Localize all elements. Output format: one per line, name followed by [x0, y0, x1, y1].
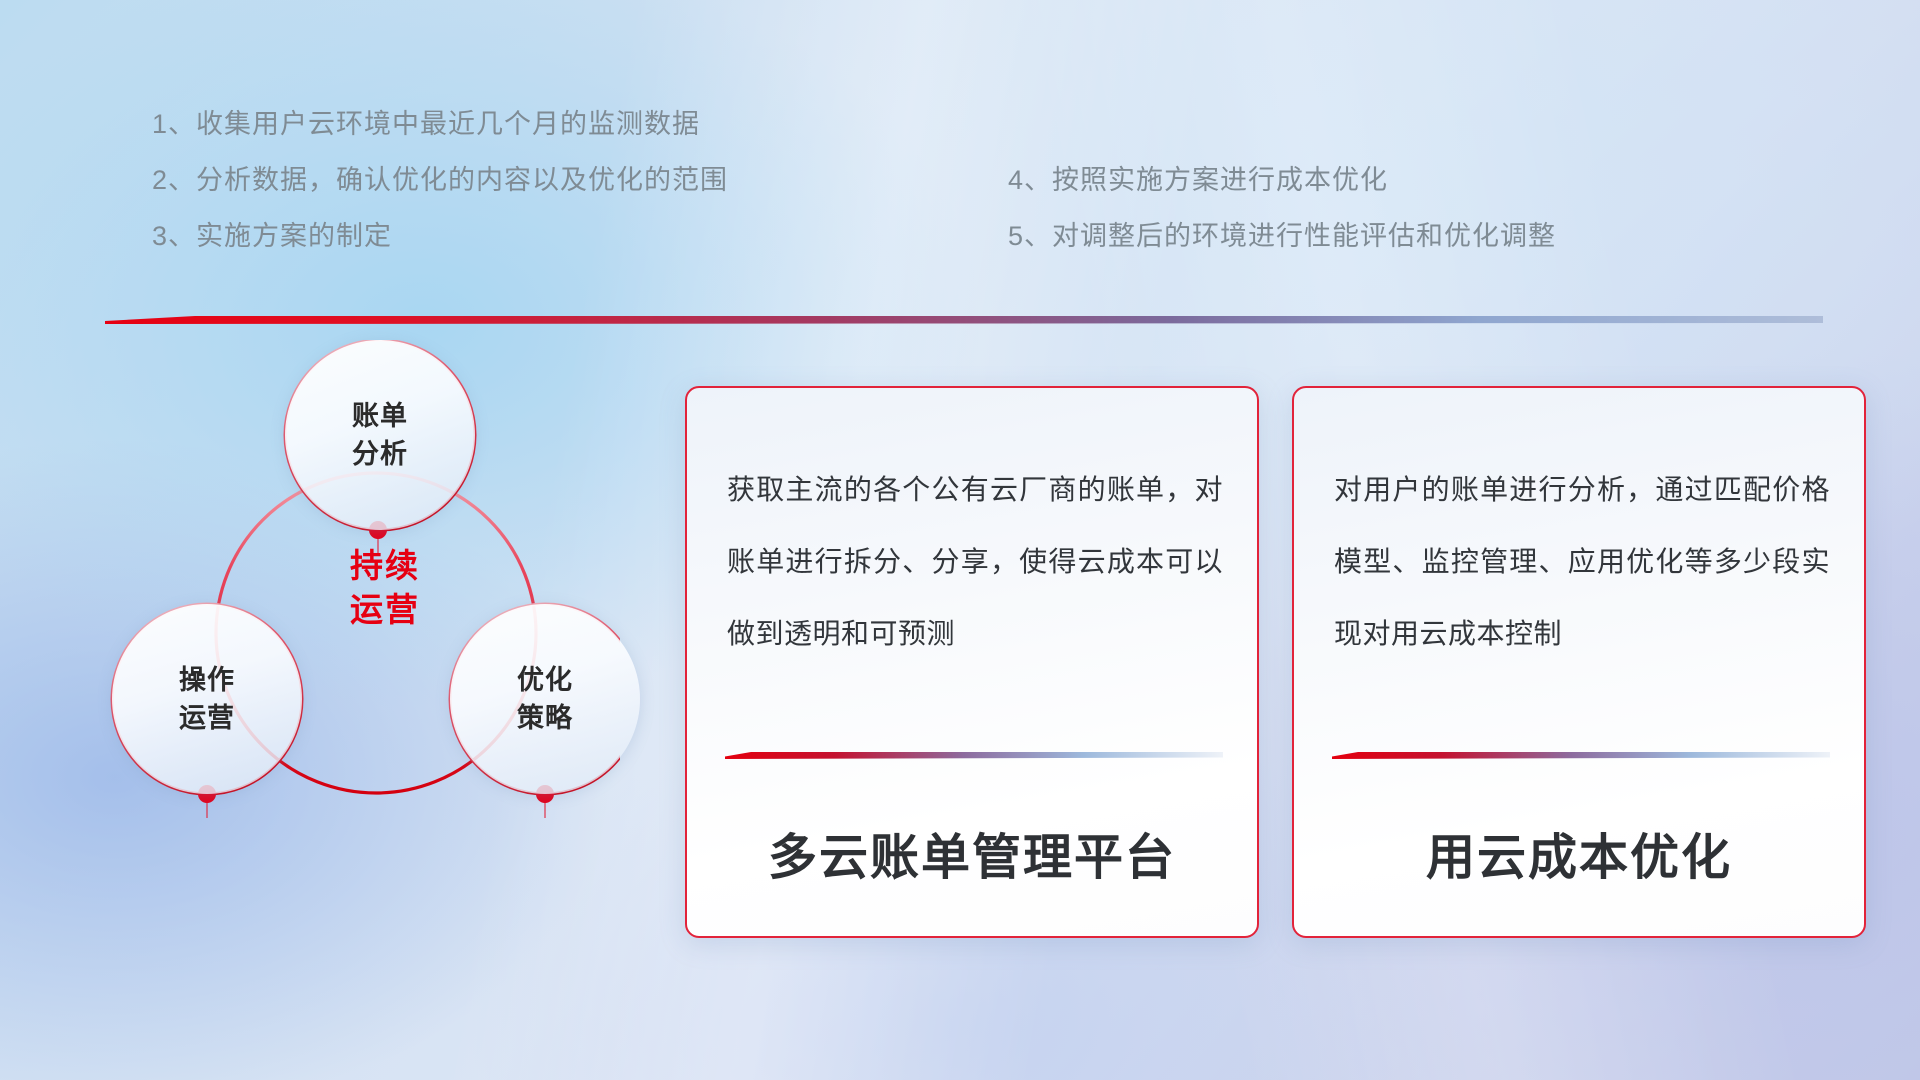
step-item-4: 4、按照实施方案进行成本优化	[1008, 152, 1556, 208]
venn-bubble-top-line2: 分析	[352, 439, 408, 469]
venn-bubble-right-line2: 策略	[517, 703, 573, 733]
card-2-body: 对用户的账单进行分析，通过匹配价格模型、监控管理、应用优化等多少段实现对用云成本…	[1334, 454, 1830, 670]
header-divider	[105, 312, 1823, 324]
card-2-title: 用云成本优化	[1294, 818, 1864, 889]
slide-canvas: 1、收集用户云环境中最近几个月的监测数据 2、分析数据，确认优化的内容以及优化的…	[0, 0, 1920, 1080]
venn-bubble-left-line2: 运营	[179, 703, 235, 733]
venn-center-label: 持续 运营	[305, 544, 465, 632]
venn-diagram: 账单 分析 操作 运营 优化 策略 持续 运营	[100, 340, 620, 960]
card-1-divider	[725, 750, 1223, 759]
steps-left-column: 1、收集用户云环境中最近几个月的监测数据 2、分析数据，确认优化的内容以及优化的…	[152, 96, 728, 264]
venn-center-line1: 持续	[350, 547, 420, 584]
step-item-3: 3、实施方案的制定	[152, 208, 728, 264]
step-item-1: 1、收集用户云环境中最近几个月的监测数据	[152, 96, 728, 152]
venn-bubble-left-line1: 操作	[179, 665, 235, 695]
card-1-title: 多云账单管理平台	[687, 818, 1257, 889]
venn-bubble-optimization-strategy[interactable]: 优化 策略	[450, 604, 640, 794]
card-multicloud-billing-platform[interactable]: 获取主流的各个公有云厂商的账单，对账单进行拆分、分享，使得云成本可以做到透明和可…	[685, 386, 1259, 938]
step-item-5: 5、对调整后的环境进行性能评估和优化调整	[1008, 208, 1556, 264]
venn-bubble-operations[interactable]: 操作 运营	[112, 604, 302, 794]
step-item-2: 2、分析数据，确认优化的内容以及优化的范围	[152, 152, 728, 208]
steps-right-column: 4、按照实施方案进行成本优化 5、对调整后的环境进行性能评估和优化调整	[1008, 152, 1556, 264]
card-2-divider	[1332, 750, 1830, 759]
card-1-body: 获取主流的各个公有云厂商的账单，对账单进行拆分、分享，使得云成本可以做到透明和可…	[727, 454, 1223, 670]
venn-bubble-billing-analysis[interactable]: 账单 分析	[285, 340, 475, 530]
venn-center-line2: 运营	[350, 591, 420, 628]
card-cloud-cost-optimization[interactable]: 对用户的账单进行分析，通过匹配价格模型、监控管理、应用优化等多少段实现对用云成本…	[1292, 386, 1866, 938]
venn-bubble-right-line1: 优化	[517, 665, 573, 695]
venn-bubble-top-line1: 账单	[352, 401, 408, 431]
